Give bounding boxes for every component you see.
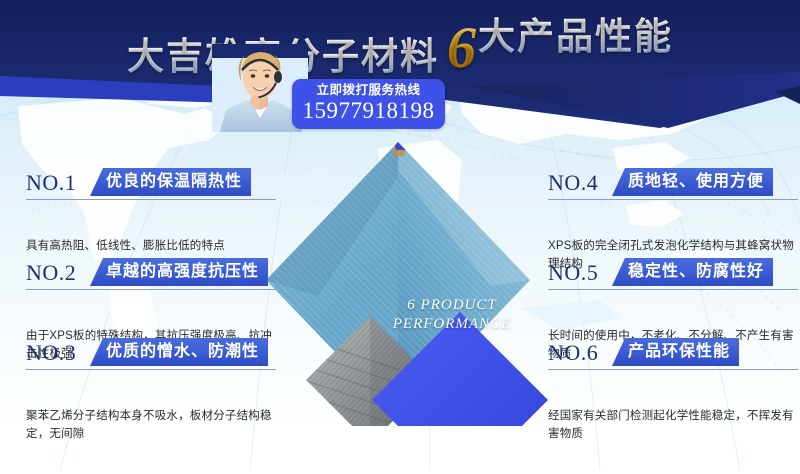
hotline-label: 立即拨打服务热线 [292,83,445,98]
promo-banner-page: 大吉雄高分子材料6大产品性能 [0,0,800,474]
feature-5-number: NO.5 [548,259,598,287]
feature-item-6: NO.6 产品环保性能 经国家有关部门检测起化学性能稳定，不挥发有害物质 [548,338,798,443]
product-diamond-artwork [258,136,558,426]
feature-4-number: NO.4 [548,169,598,197]
feature-6-title: 产品环保性能 [612,338,739,366]
feature-1-head: NO.1 优良的保温隔热性 [26,168,276,200]
feature-item-3: NO.3 优质的憎水、防潮性 聚苯乙烯分子结构本身不吸水，板材分子结构稳定，无间… [26,338,276,443]
feature-1-rule [26,199,276,200]
feature-3-head: NO.3 优质的憎水、防潮性 [26,338,276,370]
feature-5-rule [548,289,798,290]
feature-2-head: NO.2 卓越的高强度抗压性 [26,258,276,290]
hotline-number: 15977918198 [292,98,445,124]
feature-6-number: NO.6 [548,339,598,367]
feature-2-title: 卓越的高强度抗压性 [90,258,268,286]
hotline-box[interactable]: 立即拨打服务热线 15977918198 [292,79,445,129]
feature-6-head: NO.6 产品环保性能 [548,338,798,370]
feature-6-desc: 经国家有关部门检测起化学性能稳定，不挥发有害物质 [548,407,798,443]
feature-3-rule [26,369,276,370]
feature-item-1: NO.1 优良的保温隔热性 具有高热阻、低线性、膨胀比低的特点 [26,168,276,255]
feature-3-title: 优质的憎水、防潮性 [90,338,268,366]
feature-1-title: 优良的保温隔热性 [90,168,251,196]
feature-1-desc: 具有高热阻、低线性、膨胀比低的特点 [26,237,276,255]
feature-5-head: NO.5 稳定性、防腐性好 [548,258,798,290]
feature-3-desc: 聚苯乙烯分子结构本身不吸水，板材分子结构稳定，无间隙 [26,407,276,443]
feature-2-number: NO.2 [26,259,76,287]
feature-1-number: NO.1 [26,169,76,197]
feature-6-rule [548,369,798,370]
feature-2-rule [26,289,276,290]
feature-4-head: NO.4 质地轻、使用方便 [548,168,798,200]
feature-4-title: 质地轻、使用方便 [612,168,773,196]
feature-4-rule [548,199,798,200]
feature-5-title: 稳定性、防腐性好 [612,258,773,286]
feature-3-number: NO.3 [26,339,76,367]
